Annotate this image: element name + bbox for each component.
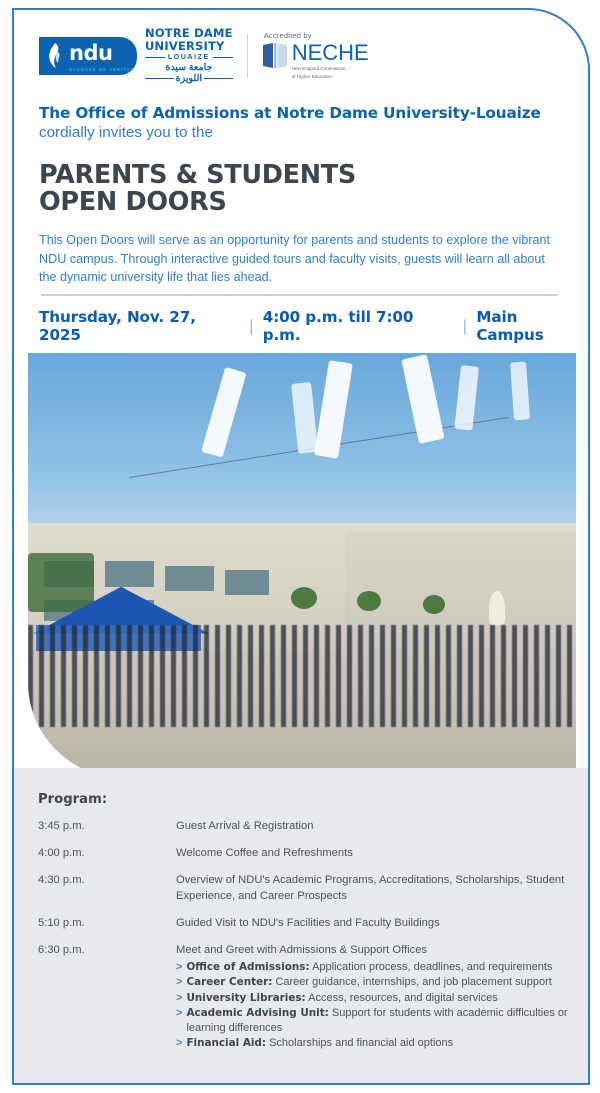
office-label: Financial Aid: [186, 1037, 266, 1049]
program-description: Meet and Greet with Admissions & Support… [176, 942, 568, 958]
program-time: 5:10 p.m. [38, 915, 176, 931]
office-text: Career guidance, internships, and job pl… [272, 976, 551, 988]
program-time: 6:30 p.m. [38, 942, 176, 1050]
caret-bullet-icon: > [176, 960, 182, 974]
program-row: 5:10 p.m. Guided Visit to NDU's Faciliti… [38, 915, 568, 931]
ndu-name-arabic2: اللويزة [145, 74, 233, 84]
accredited-by-label: Accredited by [264, 31, 369, 40]
support-office-item: > Career Center: Career guidance, intern… [176, 975, 568, 989]
support-offices-list: > Office of Admissions: Application proc… [176, 960, 568, 1050]
photo-window [165, 566, 214, 592]
page-title: PARENTS & STUDENTS OPEN DOORS [39, 162, 356, 216]
office-label: University Libraries: [186, 992, 305, 1004]
program-section: Program: 3:45 p.m. Guest Arrival & Regis… [14, 768, 588, 1083]
program-time: 4:00 p.m. [38, 845, 176, 861]
photo-tree [357, 591, 381, 611]
program-description: Overview of NDU's Academic Programs, Acc… [176, 872, 568, 904]
neche-tagline-2: of Higher Education [292, 74, 369, 80]
office-label: Office of Admissions: [186, 961, 309, 973]
program-time: 3:45 p.m. [38, 818, 176, 834]
event-details-bar: Thursday, Nov. 27, 2025 | 4:00 p.m. till… [39, 308, 588, 344]
office-text: Scholarships and financial aid options [266, 1037, 453, 1049]
ndu-name-line1: NOTRE DAME [145, 28, 233, 40]
open-book-icon [262, 42, 288, 70]
ndu-logo-mark: ndu SAGESSE DE VERITAS [39, 37, 137, 75]
program-row: 4:30 p.m. Overview of NDU's Academic Pro… [38, 872, 568, 904]
office-label: Academic Advising Unit: [186, 1007, 328, 1019]
photo-window [105, 561, 154, 587]
logo-lockup: ndu SAGESSE DE VERITAS NOTRE DAME UNIVER… [39, 28, 369, 83]
photo-hedge [28, 553, 94, 613]
program-row: 6:30 p.m. Meet and Greet with Admissions… [38, 942, 568, 1050]
event-venue: Main Campus [476, 308, 588, 344]
ndu-logo: ndu SAGESSE DE VERITAS NOTRE DAME UNIVER… [39, 28, 233, 83]
photo-statue [489, 591, 505, 625]
event-description: This Open Doors will serve as an opportu… [39, 231, 558, 287]
logo-divider [247, 34, 248, 78]
caret-bullet-icon: > [176, 1036, 182, 1050]
photo-crowd [28, 625, 576, 727]
office-label: Career Center: [186, 976, 272, 988]
invitation-block: The Office of Admissions at Notre Dame U… [39, 104, 560, 141]
ndu-flame-icon [48, 43, 62, 68]
program-schedule-list: 3:45 p.m. Guest Arrival & Registration 4… [38, 818, 568, 1050]
program-time: 4:30 p.m. [38, 872, 176, 904]
event-time: 4:00 p.m. till 7:00 p.m. [263, 308, 454, 344]
caret-bullet-icon: > [176, 975, 182, 989]
neche-tagline-1: New England Commission [292, 66, 369, 72]
section-divider [41, 294, 558, 296]
support-office-item: > Academic Advising Unit: Support for st… [176, 1006, 568, 1035]
program-row: 3:45 p.m. Guest Arrival & Registration [38, 818, 568, 834]
program-row: 4:00 p.m. Welcome Coffee and Refreshment… [38, 845, 568, 861]
event-date: Thursday, Nov. 27, 2025 [39, 308, 240, 344]
program-heading: Program: [38, 792, 107, 807]
ndu-wordmark: ndu [69, 41, 112, 65]
program-description: Guided Visit to NDU's Facilities and Fac… [176, 915, 440, 931]
photo-tree [423, 595, 445, 614]
photo-tree [291, 587, 317, 609]
ndu-name-line2: UNIVERSITY [145, 41, 233, 53]
invitation-line-1: The Office of Admissions at Notre Dame U… [39, 104, 560, 122]
office-text: Access, resources, and digital services [306, 992, 498, 1004]
flyer-poster: ndu SAGESSE DE VERITAS NOTRE DAME UNIVER… [0, 0, 600, 1093]
caret-bullet-icon: > [176, 1006, 182, 1035]
campus-photo [28, 353, 576, 778]
office-text: Application process, deadlines, and requ… [310, 961, 553, 973]
detail-separator-1: | [240, 317, 263, 335]
program-description: Welcome Coffee and Refreshments [176, 845, 353, 861]
program-description: Guest Arrival & Registration [176, 818, 313, 834]
ndu-name-line3: LOUAIZE [145, 54, 233, 61]
ndu-mark-subtext: SAGESSE DE VERITAS [69, 67, 135, 72]
support-office-item: > University Libraries: Access, resource… [176, 991, 568, 1005]
photo-window [225, 570, 269, 596]
ndu-logo-text: NOTRE DAME UNIVERSITY LOUAIZE جامعة سيدة… [145, 28, 233, 83]
invitation-line-2: cordially invites you to the [39, 124, 560, 141]
page-title-line-1: PARENTS & STUDENTS [39, 162, 356, 189]
support-office-item: > Financial Aid: Scholarships and financ… [176, 1036, 568, 1050]
support-office-item: > Office of Admissions: Application proc… [176, 960, 568, 974]
neche-accreditation-logo: Accredited by NECHE New England Commissi… [262, 31, 369, 80]
ndu-name-arabic1: جامعة سيدة [145, 63, 233, 73]
detail-separator-2: | [453, 317, 476, 335]
neche-name: NECHE [292, 42, 369, 64]
caret-bullet-icon: > [176, 991, 182, 1005]
page-title-line-2: OPEN DOORS [39, 189, 356, 216]
